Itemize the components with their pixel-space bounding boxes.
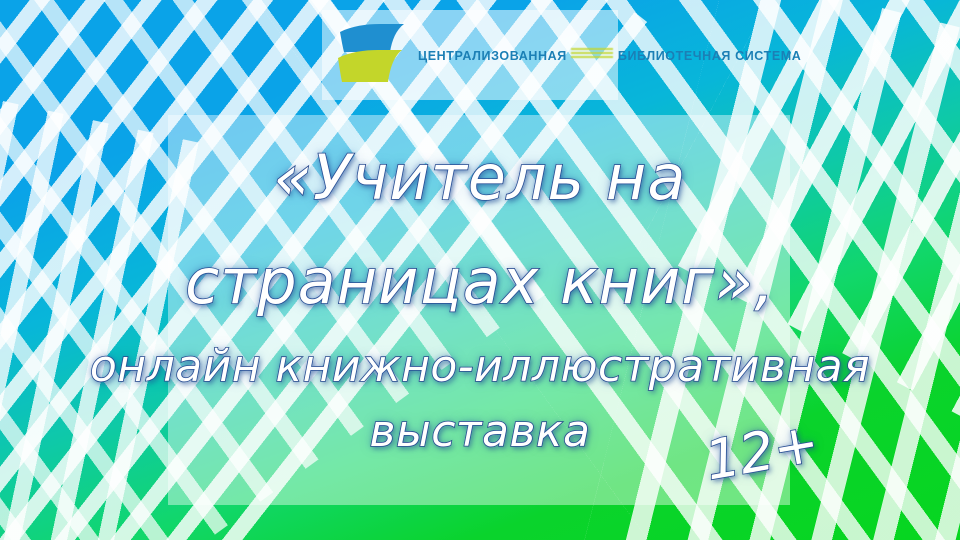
content-panel — [168, 115, 790, 505]
logo-line-2: БИБЛИОТЕЧНАЯ СИСТЕМА — [618, 49, 802, 65]
organization-logo-text: ЦЕНТРАЛИЗОВАННАЯ БИБЛИОТЕЧНАЯ СИСТЕМА — [418, 45, 801, 65]
barcode-decoration-icon — [571, 48, 613, 59]
open-book-pages-icon — [336, 20, 408, 90]
poster-canvas: ЦЕНТРАЛИЗОВАННАЯ БИБЛИОТЕЧНАЯ СИСТЕМА «У… — [0, 0, 960, 540]
logo-line-1: ЦЕНТРАЛИЗОВАННАЯ — [418, 49, 567, 63]
organization-logo-card: ЦЕНТРАЛИЗОВАННАЯ БИБЛИОТЕЧНАЯ СИСТЕМА — [322, 10, 618, 100]
